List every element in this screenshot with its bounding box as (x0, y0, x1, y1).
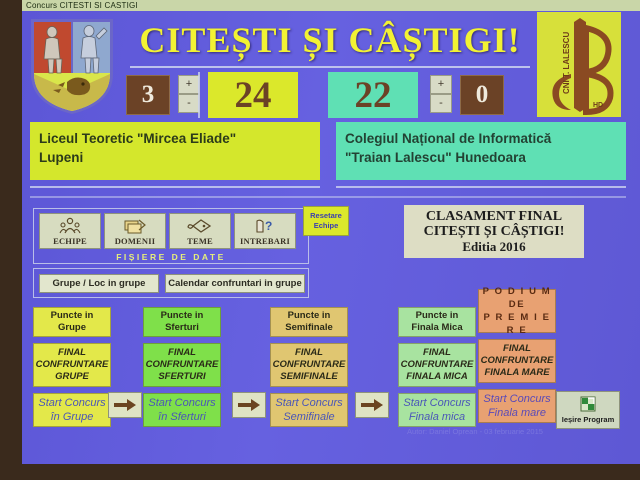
teme-button-label: TEME (187, 236, 213, 246)
scoreboard: 3 + - 24 22 + - 0 (126, 72, 530, 118)
calendar-confruntari-button[interactable]: Calendar confruntari in grupe (165, 274, 305, 293)
start-concurs-semifinale-button[interactable]: Start Concurs Semifinale (270, 393, 348, 427)
puncte-sferturi-button[interactable]: Puncte in Sferturi (143, 307, 221, 337)
domenii-button[interactable]: DOMENII (104, 213, 166, 249)
final-sferturi-line1: FINAL (168, 347, 196, 359)
clasament-final-panel: CLASAMENT FINAL CITEȘTI ȘI CÂȘTIGI! Edit… (404, 205, 584, 258)
podium-line1: P O D I U M (483, 285, 552, 298)
start-sferturi-line2: în Sferturi (158, 410, 206, 424)
final-semifinale-line2: CONFRUNTARE (273, 359, 346, 371)
puncte-semifinale-line2: Semifinale (285, 322, 333, 334)
page-title: CITEȘTI ȘI CÂȘTIGI! (128, 18, 532, 62)
data-files-group-title: FIȘIERE DE DATE (34, 252, 308, 262)
window-titlebar: Concurs CITESTI SI CASTIGI (22, 0, 640, 11)
podium-line3: P R E M I E R E (479, 311, 555, 337)
start-semifinale-line2: Semifinale (283, 410, 334, 424)
right-section-divider (336, 186, 626, 188)
stage-column-grupe: Puncte in Grupe FINAL CONFRUNTARE GRUPE … (33, 307, 111, 427)
start-finala-mica-line2: Finala mica (409, 410, 465, 424)
title-divider (130, 66, 530, 68)
final-grupe-line3: GRUPE (55, 371, 89, 383)
resetare-echipe-button[interactable]: Resetare Echipe (303, 206, 349, 236)
final-finala-mare-line1: FINAL (503, 343, 531, 355)
echipe-button-label: ECHIPE (53, 236, 87, 246)
start-sferturi-line1: Start Concurs (148, 396, 215, 410)
final-finala-mica-line2: CONFRUNTARE (401, 359, 474, 371)
right-team-total-score: 22 (328, 72, 418, 118)
tag-icon (187, 216, 213, 236)
svg-text:HD: HD (593, 102, 603, 109)
right-team-round-score: 0 (460, 75, 504, 115)
start-semifinale-line1: Start Concurs (275, 396, 342, 410)
domenii-button-label: DOMENII (115, 236, 156, 246)
arrow-right-icon (238, 398, 260, 412)
left-team-name-panel: Liceul Teoretic "Mircea Eliade" Lupeni (30, 122, 320, 180)
right-score-increment[interactable]: + (430, 75, 452, 94)
left-team-name-line2: Lupeni (39, 148, 312, 167)
left-team-round-score: 3 (126, 75, 170, 115)
resetare-echipe-line1: Resetare (310, 211, 342, 221)
puncte-grupe-line1: Puncte in (51, 310, 94, 322)
arrow-right-icon (361, 398, 383, 412)
lists-group: Grupe / Loc in grupe Calendar confruntar… (33, 268, 309, 298)
exit-door-icon (578, 396, 598, 414)
author-footer: Autor: Daniel Oprean - 03 februarie 2015 (330, 427, 620, 436)
start-grupe-line2: în Grupe (51, 410, 94, 424)
final-confruntare-sferturi-button[interactable]: FINAL CONFRUNTARE SFERTURI (143, 343, 221, 387)
svg-text:?: ? (265, 219, 272, 233)
left-score-decrement[interactable]: - (178, 94, 200, 113)
start-concurs-finala-mica-button[interactable]: Start Concurs Finala mica (398, 393, 476, 427)
panel-divider (30, 196, 626, 198)
svg-text:CNI T. LALESCU: CNI T. LALESCU (562, 32, 571, 94)
echipe-button[interactable]: ECHIPE (39, 213, 101, 249)
school-logo-icon: CNI T. LALESCU HD (537, 12, 621, 117)
final-confruntare-finala-mica-button[interactable]: FINAL CONFRUNTARE FINALA MICA (398, 343, 476, 387)
question-hand-icon: ? (254, 216, 276, 236)
coat-of-arms-icon (27, 16, 117, 116)
final-confruntare-grupe-button[interactable]: FINAL CONFRUNTARE GRUPE (33, 343, 111, 387)
left-score-stepper[interactable]: + - (178, 75, 200, 115)
clasament-line3: Editia 2016 (462, 239, 525, 254)
puncte-finala-mica-line2: Finala Mica (411, 322, 462, 334)
puncte-sferturi-line2: Sferturi (165, 322, 199, 334)
final-finala-mica-line3: FINALA MICA (406, 371, 467, 383)
left-team-name-line1: Liceul Teoretic "Mircea Eliade" (39, 129, 312, 148)
right-team-name-line1: Colegiul Național de Informatică (345, 129, 618, 148)
puncte-semifinale-button[interactable]: Puncte in Semifinale (270, 307, 348, 337)
podium-de-premiere-button[interactable]: P O D I U M DE P R E M I E R E (478, 289, 556, 333)
resetare-echipe-line2: Echipe (314, 221, 339, 231)
final-semifinale-line1: FINAL (295, 347, 323, 359)
iesire-program-button[interactable]: Ieșire Program (556, 391, 620, 429)
puncte-sferturi-line1: Puncte in (161, 310, 204, 322)
start-concurs-finala-mare-button[interactable]: Start Concurs Finala mare (478, 389, 556, 423)
puncte-grupe-button[interactable]: Puncte in Grupe (33, 307, 111, 337)
intrebari-button-label: INTREBARI (240, 236, 290, 246)
final-finala-mare-line2: CONFRUNTARE (481, 355, 554, 367)
final-sferturi-line3: SFERTURI (158, 371, 205, 383)
podium-line2: DE (509, 298, 525, 311)
puncte-finala-mica-line1: Puncte in (416, 310, 459, 322)
arrow-semifinale-to-finala[interactable] (355, 392, 389, 418)
arrow-sferturi-to-semifinale[interactable] (232, 392, 266, 418)
right-score-stepper[interactable]: + - (430, 75, 452, 115)
start-grupe-line1: Start Concurs (38, 396, 105, 410)
people-icon (59, 216, 81, 236)
final-grupe-line1: FINAL (58, 347, 86, 359)
puncte-finala-mica-button[interactable]: Puncte in Finala Mica (398, 307, 476, 337)
clasament-line1: CLASAMENT FINAL (426, 209, 562, 224)
teme-button[interactable]: TEME (169, 213, 231, 249)
left-score-increment[interactable]: + (178, 75, 200, 94)
arrow-grupe-to-sferturi[interactable] (108, 392, 142, 418)
puncte-semifinale-line1: Puncte in (288, 310, 331, 322)
final-confruntare-finala-mare-button[interactable]: FINAL CONFRUNTARE FINALA MARE (478, 339, 556, 383)
right-team-name-panel: Colegiul Național de Informatică "Traian… (336, 122, 626, 180)
start-finala-mica-line1: Start Concurs (403, 396, 470, 410)
final-confruntare-semifinale-button[interactable]: FINAL CONFRUNTARE SEMIFINALE (270, 343, 348, 387)
final-sferturi-line2: CONFRUNTARE (146, 359, 219, 371)
start-concurs-grupe-button[interactable]: Start Concurs în Grupe (33, 393, 111, 427)
clasament-line2: CITEȘTI ȘI CÂȘTIGI! (424, 224, 565, 239)
iesire-program-label: Ieșire Program (562, 415, 615, 424)
data-files-group: ECHIPE DOMENII TEME (33, 208, 309, 264)
final-finala-mare-line3: FINALA MARE (484, 367, 549, 379)
left-section-divider (30, 186, 320, 188)
screenshot-root: Concurs CITESTI SI CASTIGI (0, 0, 640, 480)
stage-column-finala-mare: P O D I U M DE P R E M I E R E FINAL CON… (478, 289, 556, 423)
puncte-grupe-line2: Grupe (58, 322, 86, 334)
final-semifinale-line3: SEMIFINALE (280, 371, 338, 383)
start-concurs-sferturi-button[interactable]: Start Concurs în Sferturi (143, 393, 221, 427)
right-score-decrement[interactable]: - (430, 94, 452, 113)
intrebari-button[interactable]: ? INTREBARI (234, 213, 296, 249)
stage-column-sferturi: Puncte in Sferturi FINAL CONFRUNTARE SFE… (143, 307, 221, 427)
left-team-total-score: 24 (208, 72, 298, 118)
arrow-right-icon (114, 398, 136, 412)
folder-stack-icon (123, 216, 147, 236)
start-finala-mare-line1: Start Concurs (483, 392, 550, 406)
stage-column-finala-mica: Puncte in Finala Mica FINAL CONFRUNTARE … (398, 307, 476, 427)
final-grupe-line2: CONFRUNTARE (36, 359, 109, 371)
final-finala-mica-line1: FINAL (423, 347, 451, 359)
scoreboard-divider (198, 72, 200, 118)
start-finala-mare-line2: Finala mare (488, 406, 546, 420)
stage-column-semifinale: Puncte in Semifinale FINAL CONFRUNTARE S… (270, 307, 348, 427)
right-team-name-line2: "Traian Lalescu" Hunedoara (345, 148, 618, 167)
grupe-loc-button[interactable]: Grupe / Loc in grupe (39, 274, 159, 293)
